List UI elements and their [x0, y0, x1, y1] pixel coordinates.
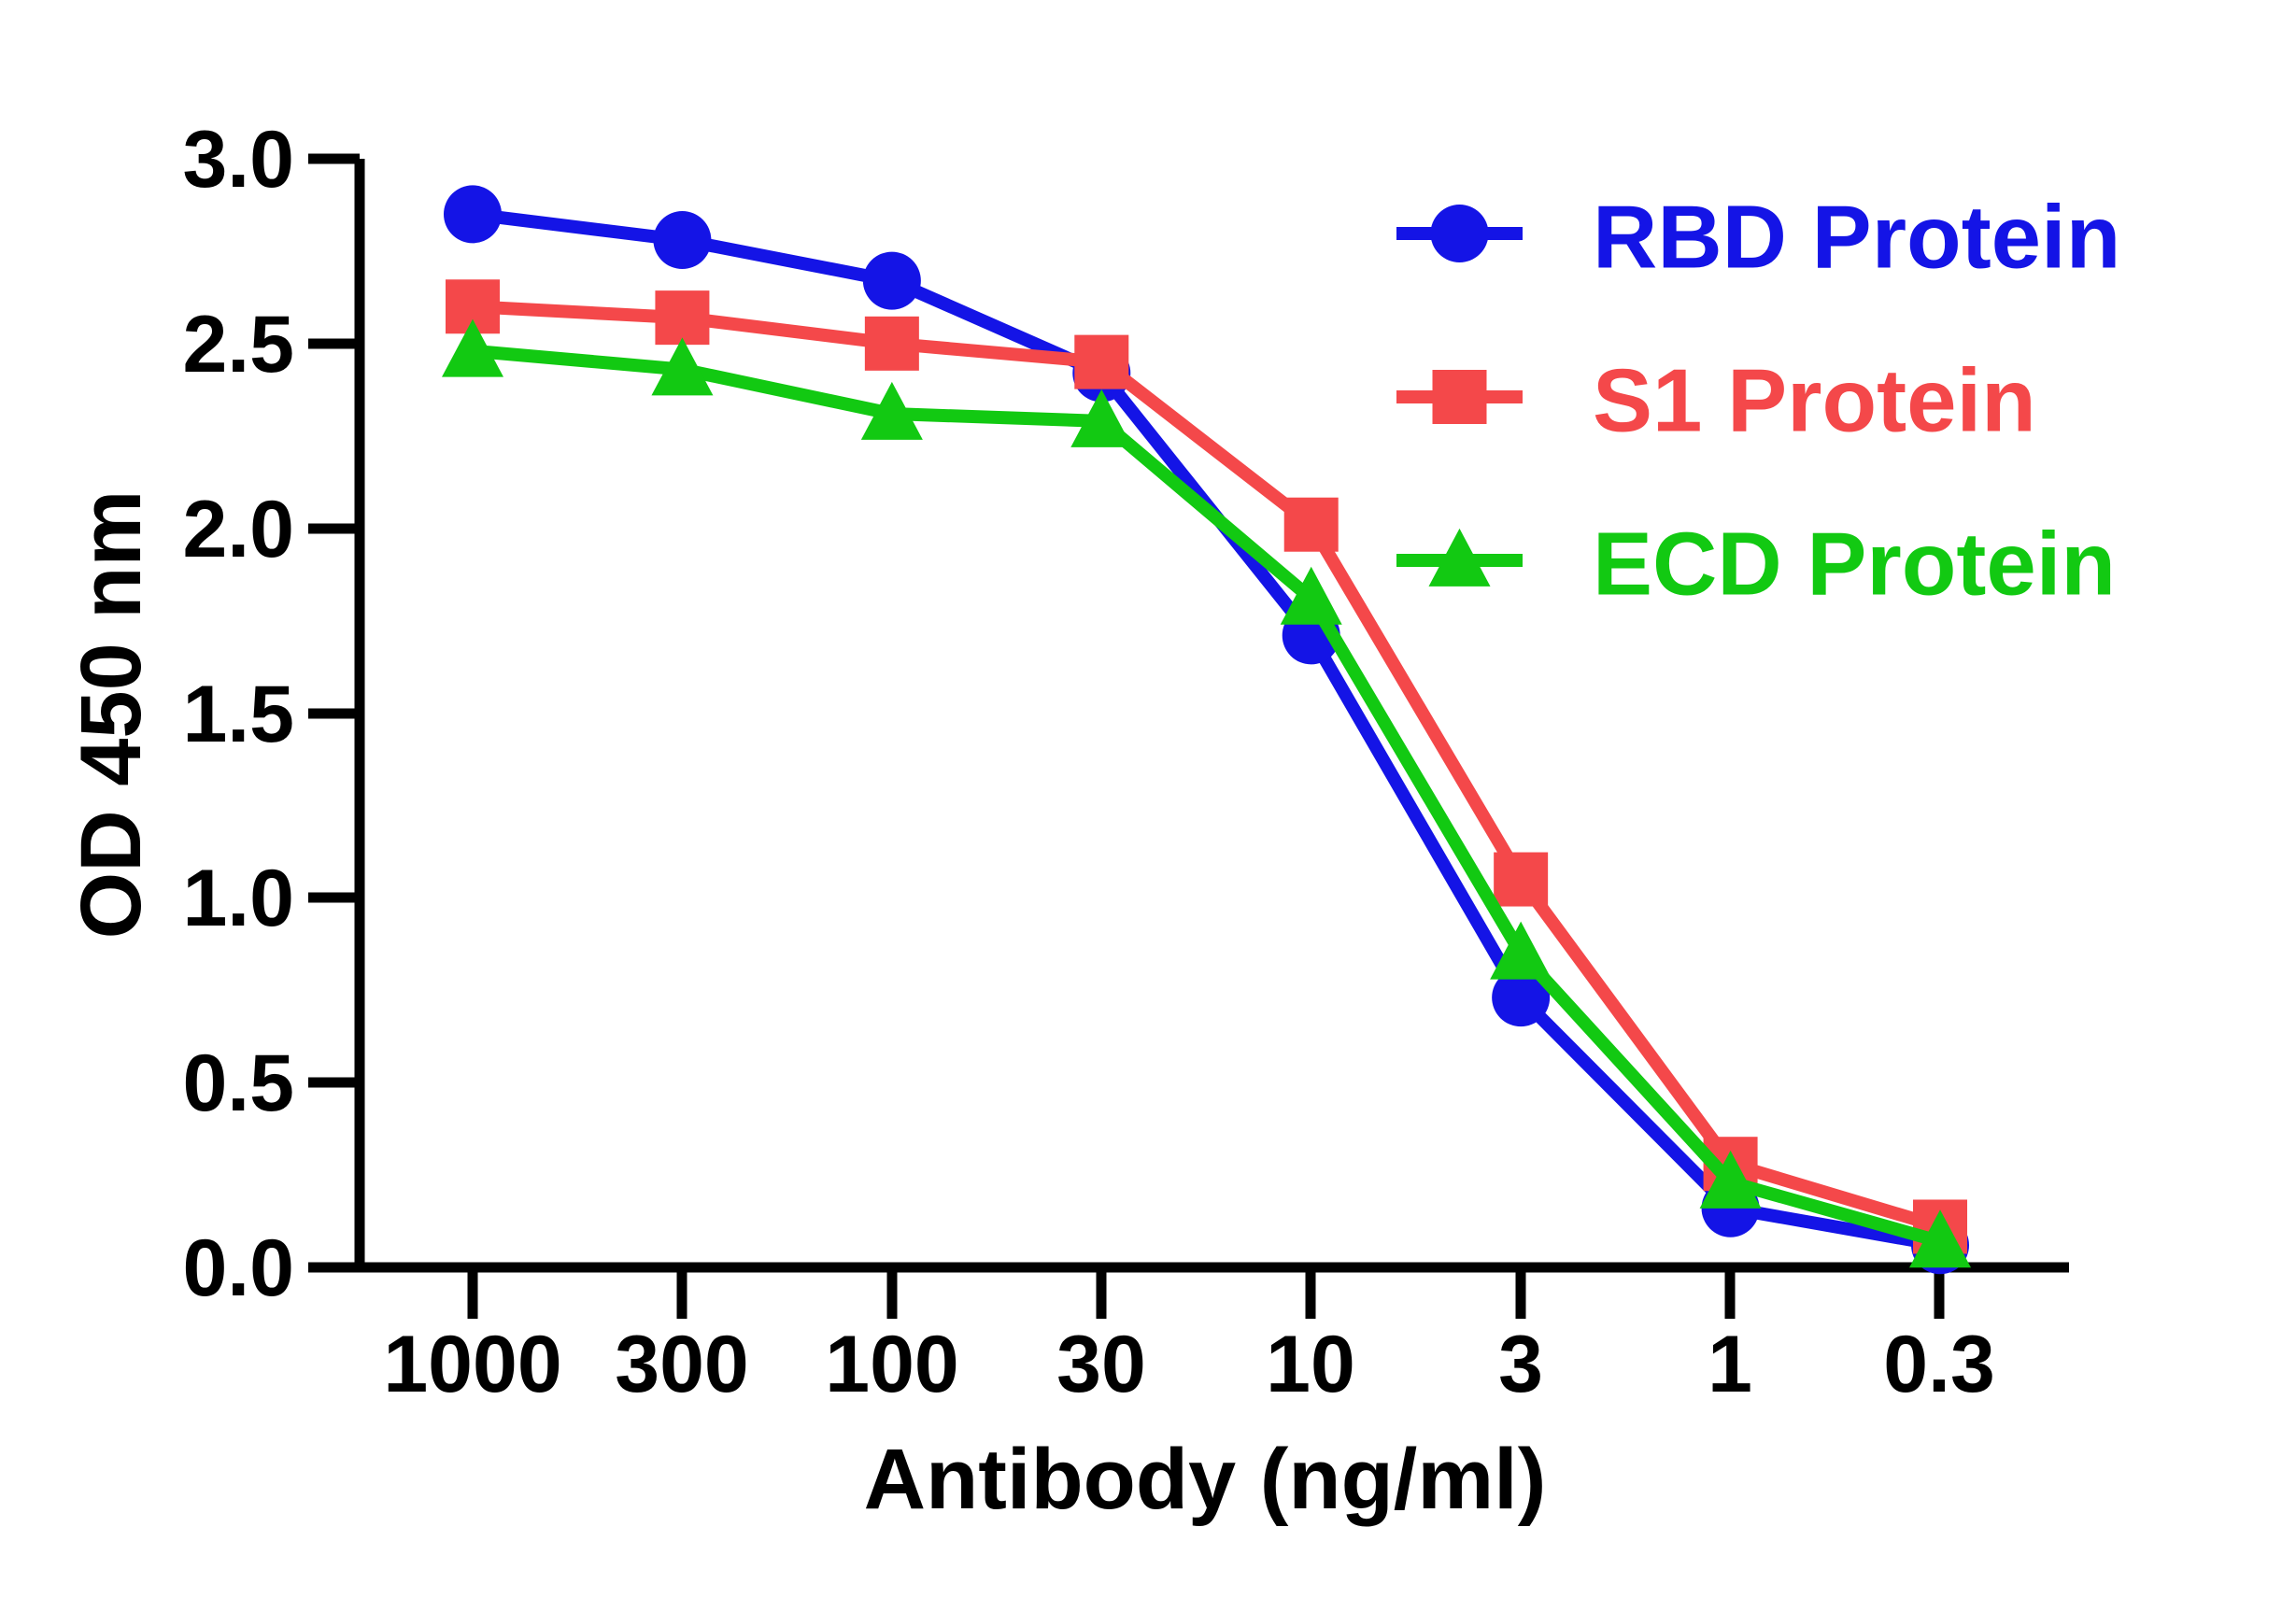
y-tick-label-0.0: 0.0 — [182, 1223, 294, 1313]
y-tick-label-0.5: 0.5 — [182, 1039, 294, 1128]
y-axis-title: OD 450 nm — [64, 490, 159, 940]
y-tick-label-1.0: 1.0 — [182, 854, 294, 943]
legend-label-2: ECD Protein — [1593, 515, 2116, 615]
data-point-circle-1 — [653, 211, 711, 269]
y-tick-label-2.5: 2.5 — [182, 300, 294, 389]
y-tick-label-1.5: 1.5 — [182, 670, 294, 759]
x-tick-label-3: 3 — [1498, 1320, 1543, 1409]
x-tick-label-10: 10 — [1266, 1320, 1355, 1409]
y-tick-label-3.0: 3.0 — [182, 115, 294, 205]
data-point-square-4 — [1284, 498, 1339, 552]
x-tick-label-100: 100 — [825, 1320, 959, 1409]
x-tick-label-1: 1 — [1708, 1320, 1752, 1409]
legend-marker-square — [1433, 370, 1487, 424]
x-tick-label-1000: 1000 — [383, 1320, 561, 1409]
y-tick-label-2.0: 2.0 — [182, 485, 294, 574]
x-tick-label-300: 300 — [615, 1320, 749, 1409]
legend-label-1: S1 Protein — [1593, 351, 2036, 451]
data-point-square-1 — [655, 290, 709, 345]
data-point-circle-0 — [444, 185, 502, 243]
legend-label-0: RBD Protein — [1593, 188, 2120, 288]
x-axis-title: Antibody (ng/ml) — [864, 1432, 1547, 1527]
legend-marker-circle — [1431, 205, 1489, 262]
x-tick-label-0.3: 0.3 — [1883, 1320, 1995, 1409]
data-point-square-3 — [1074, 335, 1128, 389]
x-tick-label-30: 30 — [1056, 1320, 1146, 1409]
elisa-line-chart: 3.0 2.5 2.0 1.5 1.0 0.5 0.0 1000 300 100… — [0, 0, 2296, 1612]
data-point-circle-2 — [863, 252, 921, 310]
chart-root: 3.0 2.5 2.0 1.5 1.0 0.5 0.0 1000 300 100… — [0, 0, 2296, 1612]
data-point-square-5 — [1494, 853, 1548, 907]
data-point-square-2 — [865, 317, 919, 371]
